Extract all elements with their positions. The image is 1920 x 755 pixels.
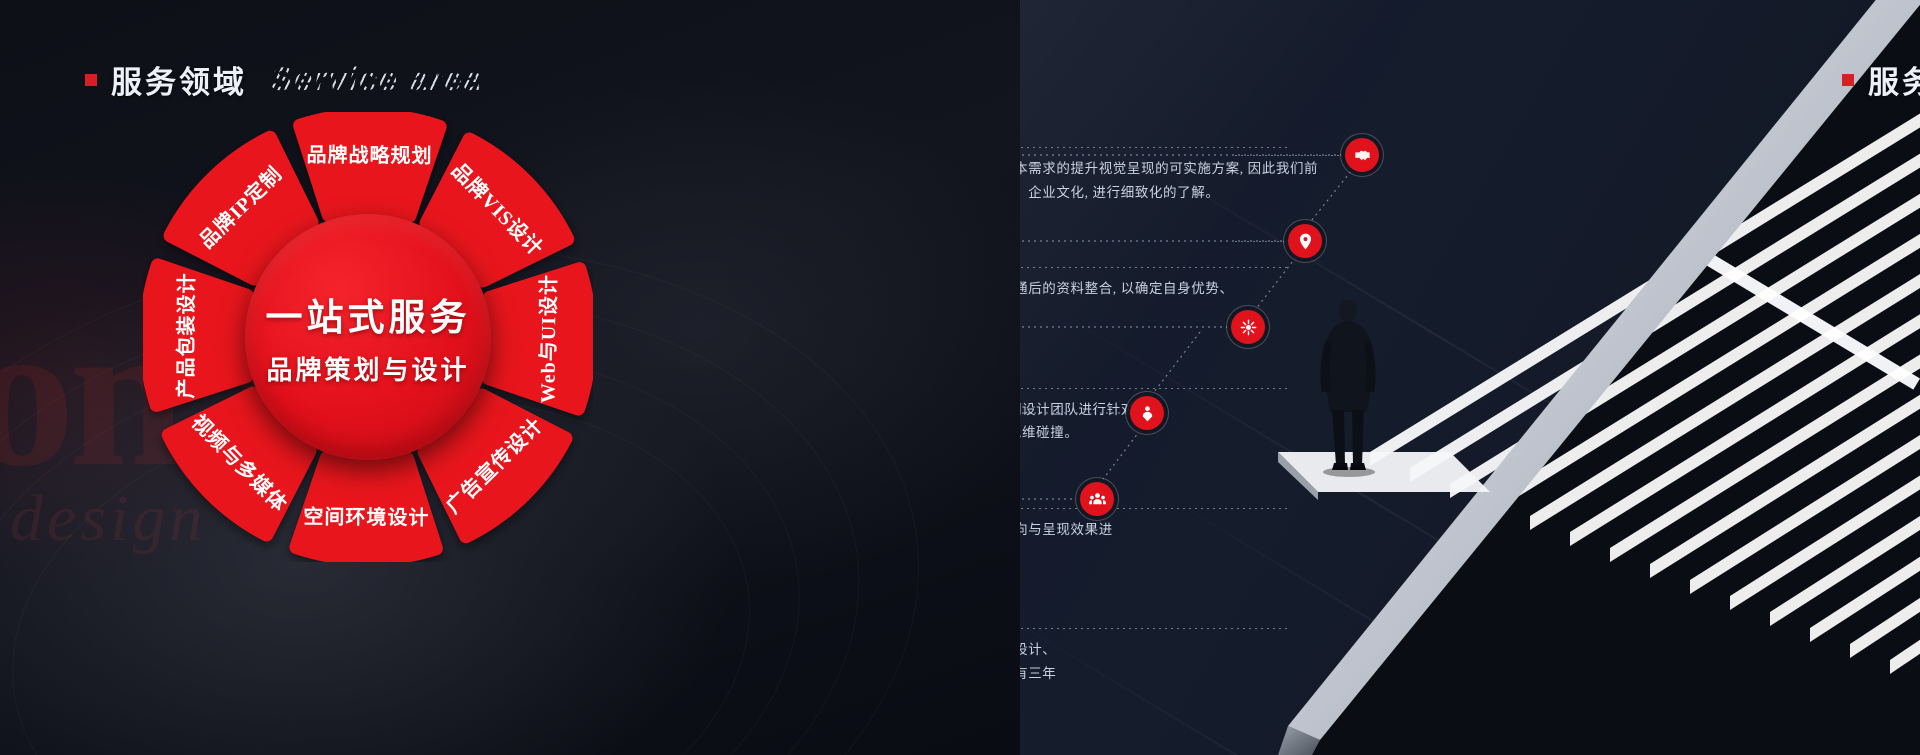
process-step-description-line: 通过双方细致的交流、沟通后的资料整合, 以确定自身优势、 (1020, 277, 1402, 301)
donut-segment-label: Web与UI设计 (536, 274, 560, 403)
donut-segment-label: 空间环境设计 (303, 504, 429, 529)
process-step-description: 通过双方细致的交流、沟通后的资料整合, 以确定自身优势、目标人群、市场定位。 (1020, 277, 1402, 324)
process-step-description: 设计是为了在满足客户基本需求的提升视觉呈现的可实施方案, 因此我们前期需要深入了… (1020, 157, 1402, 204)
node-icon-target-pin[interactable] (1288, 224, 1322, 258)
process-step[interactable]: 项目分析定位通过双方细致的交流、沟通后的资料整合, 以确定自身优势、目标人群、市… (1020, 228, 1402, 324)
donut-center-line1: 一站式服务 (266, 287, 471, 341)
process-step-description-line: 期需要深入了解客户需求、企业文化, 进行细致化的了解。 (1020, 181, 1402, 205)
process-step-title-row: 资深团队呈现 (1020, 589, 1402, 621)
process-step-description: 我们对整个项目进行创意设计、视觉呈现的设计团队均拥有三年以上的设计经验。 (1020, 638, 1402, 709)
handshake-icon (1353, 146, 1372, 165)
process-step-title-row: 客户诉求对接 (1020, 108, 1402, 140)
process-step[interactable]: 总监全面指导全程由设计总监对设计方向与呈现效果进行指导、把控。 (1020, 469, 1402, 565)
process-step-description-line: 设计是为了在满足客户基本需求的提升视觉呈现的可实施方案, 因此我们前 (1020, 157, 1402, 181)
process-step[interactable]: 资深团队呈现我们对整个项目进行创意设计、视觉呈现的设计团队均拥有三年以上的设计经… (1020, 589, 1402, 709)
process-step-title-row: 总监全面指导 (1020, 469, 1402, 501)
process-step-divider (1020, 147, 1289, 148)
donut-segment-label: 品牌战略规划 (306, 142, 432, 167)
donut-center-hub: 一站式服务 品牌策划与设计 (245, 214, 491, 460)
target-pin-icon (1296, 232, 1315, 251)
section-title-cn: 服务领域 (111, 57, 247, 102)
process-step[interactable]: 设计思维发散根据前期的资料信息, 我们设计团队进行针对性的设计会议, 展开多方向… (1020, 349, 1402, 445)
idea-burst-icon (1239, 318, 1258, 337)
process-step-divider (1020, 388, 1289, 389)
service-area-panel: ona design 服务领域 Service area 品牌VIS设计Web与… (0, 0, 1020, 755)
section-title-en: Service area (271, 61, 484, 98)
red-square-bullet-icon (1842, 74, 1854, 86)
director-person-icon (1138, 404, 1157, 423)
process-step-description-line: 我们对整个项目进行创意设计、 (1020, 638, 1402, 662)
process-step-description-line: 目标人群、市场定位。 (1020, 301, 1402, 325)
process-step-description-line: 全程由设计总监对设计方向与呈现效果进 (1020, 518, 1402, 542)
team-group-icon (1088, 490, 1107, 509)
node-icon-idea-burst[interactable] (1231, 310, 1265, 344)
service-area-donut-chart: 品牌VIS设计Web与UI设计广告宣传设计空间环境设计视频与多媒体产品包装设计品… (143, 112, 593, 562)
section-header-service-area: 服务领域 Service area (85, 57, 484, 102)
donut-segment-label: 产品包装设计 (173, 272, 198, 398)
process-step-description-line: 行指导、把控。 (1020, 541, 1402, 565)
process-step-description-line: 根据前期的资料信息, 我们设计团队进行针对性的 (1020, 398, 1402, 422)
donut-center-line2: 品牌策划与设计 (266, 350, 469, 387)
process-step-divider (1020, 508, 1289, 509)
process-step-description-line: 以上的设计经验。 (1020, 685, 1402, 709)
section-title-cn: 服务流程 (1868, 57, 1920, 102)
service-process-panel: 服务流程 Service process 客户诉求对接设计是为了在满足客户基本需… (1020, 0, 1920, 755)
process-step-divider (1020, 628, 1289, 629)
node-icon-director-person[interactable] (1130, 396, 1164, 430)
process-step-title-row: 设计思维发散 (1020, 349, 1402, 381)
process-step-divider (1020, 267, 1289, 268)
process-step-description-line: 视觉呈现的设计团队均拥有三年 (1020, 662, 1402, 686)
process-step-description-line: 设计会议, 展开多方向的思维碰撞。 (1020, 421, 1402, 445)
process-step-title-row: 项目分析定位 (1020, 228, 1402, 260)
process-step-list: 客户诉求对接设计是为了在满足客户基本需求的提升视觉呈现的可实施方案, 因此我们前… (1020, 108, 1402, 709)
node-icon-team-group[interactable] (1080, 482, 1114, 516)
section-header-service-process: 服务流程 Service process (1842, 57, 1920, 102)
red-square-bullet-icon (85, 74, 97, 86)
process-step-description: 全程由设计总监对设计方向与呈现效果进行指导、把控。 (1020, 518, 1402, 565)
node-icon-handshake[interactable] (1345, 138, 1379, 172)
slide-canvas: ona design 服务领域 Service area 品牌VIS设计Web与… (0, 0, 1920, 755)
process-step-description: 根据前期的资料信息, 我们设计团队进行针对性的设计会议, 展开多方向的思维碰撞。 (1020, 398, 1402, 445)
